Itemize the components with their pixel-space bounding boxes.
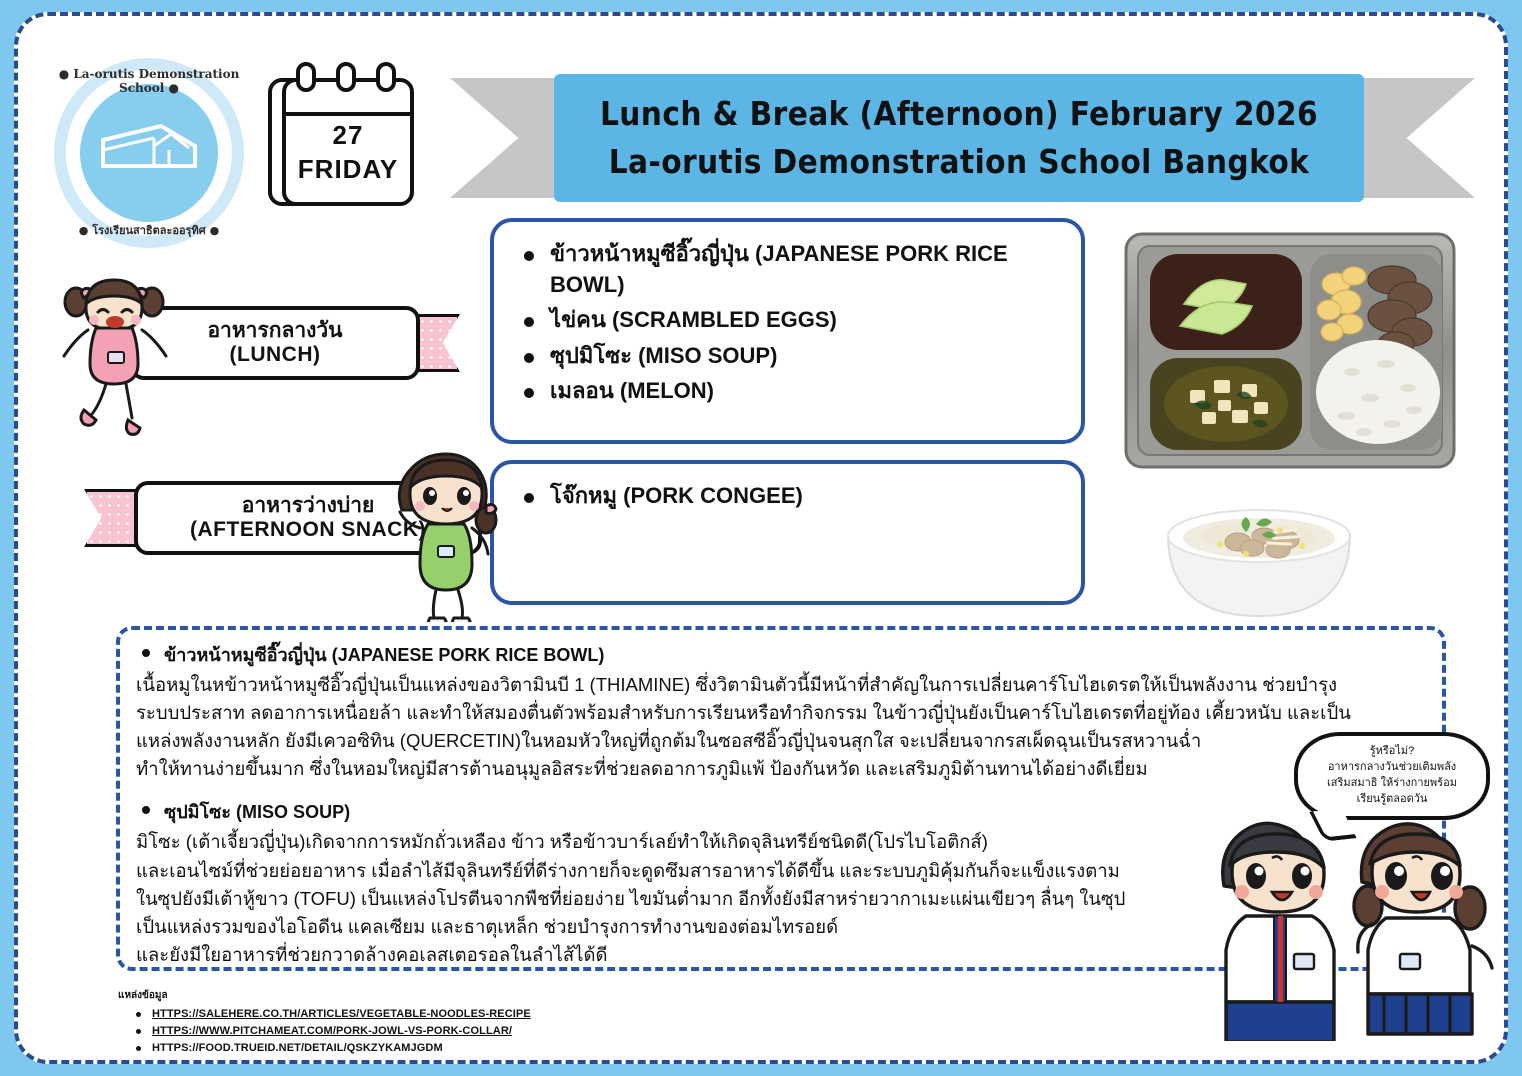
snack-menu-box: โจ๊กหมู (PORK CONGEE) [490,460,1085,605]
sources-label: แหล่งข้อมูล [118,988,718,1003]
sources-list: HTTPS://SALEHERE.CO.TH/ARTICLES/VEGETABL… [118,1006,718,1057]
source-link-item[interactable]: HTTPS://SALEHERE.CO.TH/ARTICLES/VEGETABL… [118,1006,718,1023]
calendar-ring-icon [336,62,356,92]
info-heading: ข้าวหน้าหมูซีอิ๊วญี่ปุ่น (JAPANESE PORK … [136,640,1426,669]
snack-menu-list: โจ๊กหมู (PORK CONGEE) [520,480,1059,511]
school-building-icon [99,120,199,182]
lunch-tray-photo [1124,232,1456,469]
poster-card: ● La-orutis Demonstration School ● ● โรง… [14,12,1508,1064]
banner-tail-left [450,78,568,198]
schoolboy-character [1210,816,1350,1041]
info-line: ทำให้ทานง่ายขึ้นมาก ซึ่งในหอมใหญ่มีสารต้… [136,755,1426,783]
info-line: แหล่งพลังงานหลัก ยังมีเควอซิทิน (QUERCET… [136,727,1426,755]
banner-title-line2: La-orutis Demonstration School Bangkok [609,138,1310,186]
banner-tail-right [1357,78,1475,198]
source-link-item[interactable]: HTTPS://FOOD.TRUEID.NET/DETAIL/QSKZYKAMJ… [118,1040,718,1057]
list-item: ไข่คน (SCRAMBLED EGGS) [520,304,1059,335]
banner-title-line1: Lunch & Break (Afternoon) February 2026 [600,90,1318,138]
ribbon-tail-icon [84,489,138,547]
info-line: เนื้อหมูในหข้าวหน้าหมูซีอิ๊วญี่ปุ่นเป็นแ… [136,671,1426,699]
calendar-widget: 27 FRIDAY [268,64,418,214]
info-line: ระบบประสาท ลดอาการเหนื่อยล้า และทำให้สมอ… [136,699,1426,727]
info-body: เนื้อหมูในหข้าวหน้าหมูซีอิ๊วญี่ปุ่นเป็นแ… [136,671,1426,783]
list-item: ซุปมิโซะ (MISO SOUP) [520,340,1059,371]
calendar-day-name: FRIDAY [282,154,414,185]
list-item: เมลอน (MELON) [520,375,1059,406]
lunch-label-thai: อาหารกลางวัน [207,319,342,343]
lunch-menu-list: ข้าวหน้าหมูซีอิ๊วญี่ปุ่น (JAPANESE PORK … [520,238,1059,406]
lunch-label-english: (LUNCH) [230,343,321,367]
school-logo: ● La-orutis Demonstration School ● ● โรง… [54,58,244,248]
girl-pink-dress-character [56,268,174,438]
list-item: โจ๊กหมู (PORK CONGEE) [520,480,1059,511]
banner-center: Lunch & Break (Afternoon) February 2026 … [554,74,1364,202]
schoolgirl-character [1348,816,1498,1041]
girl-green-dress-character [386,444,506,622]
sources-block: แหล่งข้อมูล HTTPS://SALEHERE.CO.TH/ARTIC… [118,988,718,1057]
bubble-line: เสริมสมาธิ ให้ร่างกายพร้อม [1327,776,1457,792]
bubble-line: รู้หรือไม่? [1370,744,1415,760]
lunch-menu-box: ข้าวหน้าหมูซีอิ๊วญี่ปุ่น (JAPANESE PORK … [490,218,1085,444]
calendar-day-number: 27 [282,120,414,151]
calendar-ring-icon [296,62,316,92]
source-link-text[interactable]: HTTPS://SALEHERE.CO.TH/ARTICLES/VEGETABL… [152,1008,531,1020]
calendar-ring-icon [376,62,396,92]
snack-label-thai: อาหารว่างบ่าย [242,494,375,518]
source-link-item[interactable]: HTTPS://WWW.PITCHAMEAT.COM/PORK-JOWL-VS-… [118,1023,718,1040]
calendar-divider [282,112,414,116]
bubble-line: เรียนรู้ตลอดวัน [1357,792,1428,808]
bubble-line: อาหารกลางวันช่วยเติมพลัง [1328,760,1456,776]
source-link-text[interactable]: HTTPS://WWW.PITCHAMEAT.COM/PORK-JOWL-VS-… [152,1025,512,1037]
list-item: ข้าวหน้าหมูซีอิ๊วญี่ปุ่น (JAPANESE PORK … [520,238,1059,300]
did-you-know-speech-bubble: รู้หรือไม่? อาหารกลางวันช่วยเติมพลัง เสร… [1294,732,1490,820]
info-spacer [136,783,1426,797]
pork-congee-photo [1128,492,1390,627]
source-link-text[interactable]: HTTPS://FOOD.TRUEID.NET/DETAIL/QSKZYKAMJ… [152,1042,443,1054]
lunch-ribbon-label: อาหารกลางวัน (LUNCH) [130,306,460,396]
title-banner: Lunch & Break (Afternoon) February 2026 … [450,74,1475,202]
